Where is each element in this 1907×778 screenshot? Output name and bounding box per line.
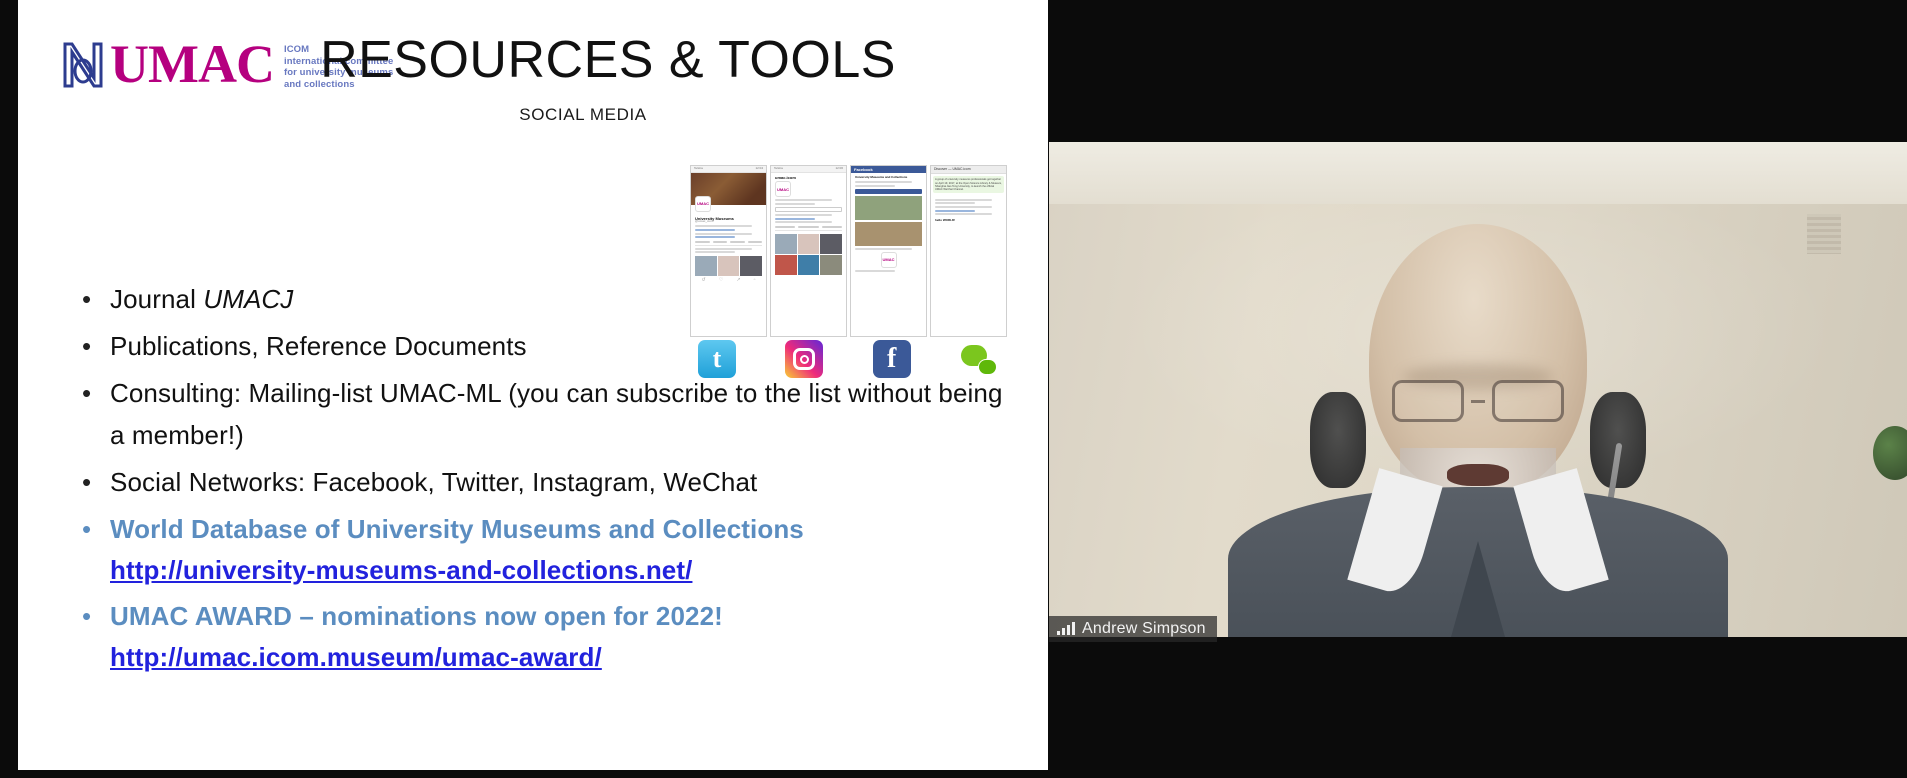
glasses-bridge	[1471, 400, 1485, 403]
twitter-tabs	[695, 241, 762, 246]
headset-earcup-right	[1590, 392, 1646, 488]
twitter-avatar: UMAC	[695, 196, 711, 212]
lens-right	[1492, 380, 1564, 422]
facebook-page-avatar: UMAC	[881, 252, 897, 268]
instagram-media-grid	[775, 234, 842, 275]
wechat-body: hello WORLD!	[931, 195, 1006, 225]
wechat-footer-text: hello WORLD!	[935, 219, 1002, 222]
facebook-page-body: University Museums and Collections UMAC	[851, 173, 926, 276]
bullet-content: UMAC AWARD – nominations now open for 20…	[110, 595, 723, 677]
twitter-media-grid	[695, 256, 762, 276]
phone-status-bar: Telstra 12:04	[691, 166, 766, 173]
bullet-content: World Database of University Museums and…	[110, 508, 804, 590]
slide-title: RESOURCES & TOOLS	[18, 30, 1048, 90]
instagram-avatar: UMAC	[775, 181, 791, 197]
bullet-marker: •	[76, 595, 110, 637]
bullet-marker: •	[76, 508, 110, 550]
instagram-profile-name: umac.icom	[775, 176, 842, 179]
bullet-heading: UMAC AWARD – nominations now open for 20…	[110, 601, 723, 631]
wechat-message-bubble: A group of university museums profession…	[933, 176, 1004, 193]
instagram-edit-profile-button[interactable]	[775, 207, 842, 212]
room-ceiling	[1049, 142, 1907, 204]
bullet-marker: •	[76, 325, 110, 367]
participant-video-tile[interactable]	[1049, 142, 1907, 637]
person-shirt	[1228, 487, 1728, 637]
facebook-header: Facebook	[851, 166, 926, 173]
world-database-link[interactable]: http://university-museums-and-collection…	[110, 550, 804, 590]
bullet-marker: •	[76, 372, 110, 414]
umac-award-link[interactable]: http://umac.icom.museum/umac-award/	[110, 637, 723, 677]
shirt-placket	[1451, 541, 1505, 637]
instagram-profile-body: umac.icom UMAC	[771, 173, 846, 278]
facebook-signup-button[interactable]	[855, 189, 922, 194]
facebook-post-image	[855, 196, 922, 220]
facebook-page-name: University Museums and Collections	[855, 176, 922, 179]
bullet-text-plain: Journal	[110, 284, 203, 314]
webcam-feed	[1049, 142, 1907, 637]
bullet-content: Consulting: Mailing-list UMAC-ML (you ca…	[110, 372, 1006, 456]
list-item: • World Database of University Museums a…	[76, 508, 1006, 590]
bullet-content: Publications, Reference Documents	[110, 325, 527, 367]
wechat-header: Discover — UMAC.icom	[931, 166, 1006, 174]
facebook-post-image	[855, 222, 922, 246]
list-item: • UMAC AWARD – nominations now open for …	[76, 595, 1006, 677]
signal-bars-icon	[1057, 622, 1075, 635]
list-item: • Social Networks: Facebook, Twitter, In…	[76, 461, 1006, 503]
eyeglasses	[1392, 378, 1564, 424]
slide-subtitle: SOCIAL MEDIA	[18, 105, 1048, 125]
bullet-text-italic: UMACJ	[203, 284, 293, 314]
participant-name: Andrew Simpson	[1082, 620, 1206, 638]
background-object	[1873, 426, 1907, 480]
list-item: • Consulting: Mailing-list UMAC-ML (you …	[76, 372, 1006, 456]
presentation-slide: UMAC ICOM international committee for un…	[18, 0, 1048, 770]
phone-status-bar: Telstra 12:06	[771, 166, 846, 173]
list-item: • Publications, Reference Documents	[76, 325, 1006, 367]
shared-screen-slide[interactable]: UMAC ICOM international committee for un…	[18, 0, 1048, 770]
slide-bullet-list: • Journal UMACJ • Publications, Referenc…	[76, 278, 1006, 682]
participant-name-badge: Andrew Simpson	[1049, 616, 1217, 642]
list-item: • Journal UMACJ	[76, 278, 1006, 320]
lens-left	[1392, 380, 1464, 422]
person-mouth	[1447, 464, 1509, 486]
bullet-content: Journal UMACJ	[110, 278, 293, 320]
bullet-marker: •	[76, 461, 110, 503]
bullet-marker: •	[76, 278, 110, 320]
bullet-content: Social Networks: Facebook, Twitter, Inst…	[110, 461, 757, 503]
headset-earcup-left	[1310, 392, 1366, 488]
video-call-screen: UMAC ICOM international committee for un…	[0, 0, 1907, 778]
bullet-heading: World Database of University Museums and…	[110, 514, 804, 544]
twitter-profile-body: University Museums @umac_icom ↺♡↗▫	[691, 205, 766, 286]
wall-vent	[1807, 214, 1841, 254]
